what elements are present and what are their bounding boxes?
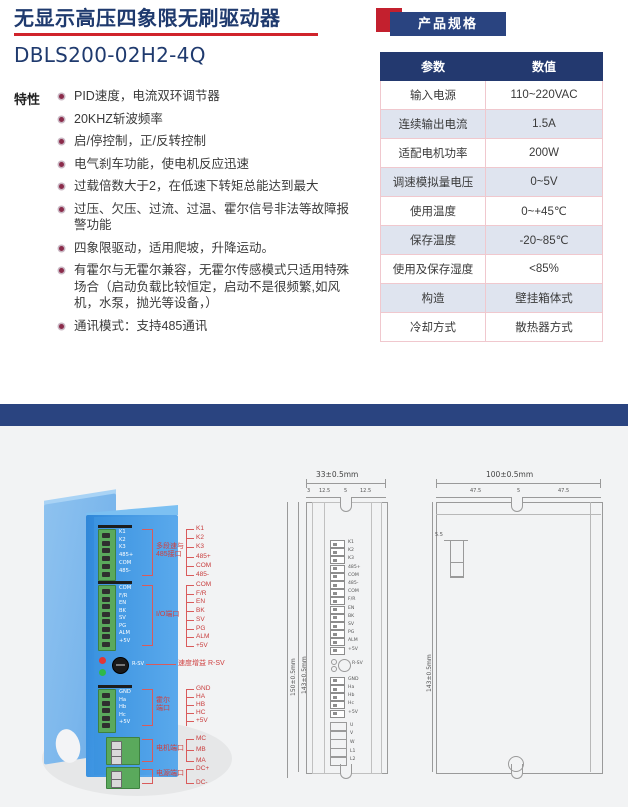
spec-value-cell: 0~5V [486, 168, 603, 197]
spec-col-param: 参数 [381, 53, 486, 81]
tb3-label: Ha [119, 697, 126, 703]
terminal-pin [102, 597, 110, 602]
spec-table-row: 使用温度0~+45℃ [381, 197, 603, 226]
model-number: DBLS200-02H2-4Q [14, 43, 334, 67]
tb2-label: EN [119, 600, 126, 606]
front-terminal-label: ALM [348, 638, 358, 644]
bullet-icon [59, 139, 64, 144]
front-terminal-row [330, 647, 345, 655]
co4-item-tick [186, 697, 194, 698]
terminal-pin [102, 589, 110, 594]
front-terminal-label: COM [348, 573, 359, 579]
page-title: 无显示高压四象限无刷驱动器 [14, 6, 334, 32]
callout-rsv: 速度增益 R-SV [178, 660, 225, 668]
feature-item: 通讯模式：支持485通讯 [58, 318, 359, 335]
front-power-label: L1 [350, 749, 355, 755]
front-sub-dim-3: 5 [344, 488, 347, 494]
front-mount-slot-top [340, 497, 352, 512]
co4-item-tick [186, 713, 194, 714]
callout-power-item: DC+ [196, 765, 209, 773]
spec-param-cell: 保存温度 [381, 226, 486, 255]
tb3-strip [98, 685, 132, 688]
front-dim-vline-2 [298, 502, 299, 772]
tb1-label: COM [119, 560, 131, 566]
callout-io-item: EN [196, 598, 205, 606]
features-label: 特性 [14, 88, 58, 340]
co2-item-tick [186, 611, 194, 612]
front-terminal-row [330, 622, 345, 630]
front-terminal-label: K2 [348, 548, 354, 554]
callout-485-item: K3 [196, 543, 204, 551]
co1-item-tick [186, 566, 194, 567]
spec-banner-band: 产品规格 [390, 12, 506, 36]
front-terminal-row [330, 556, 345, 564]
co6-tick [142, 783, 152, 784]
front-sub-dim-4: 12.5 [360, 488, 371, 494]
co1-item-tick [186, 529, 194, 530]
terminal-pin [102, 634, 110, 639]
tb3-label: Hb [119, 704, 126, 710]
bullet-icon [59, 207, 64, 212]
front-terminal-row [330, 581, 345, 589]
front-power-label: V [350, 731, 353, 737]
front-led-1 [331, 659, 337, 665]
pot-label: R-SV [132, 661, 144, 667]
co1-brace [152, 529, 153, 576]
terminal-block-power [106, 767, 140, 789]
terminal-block-485 [98, 529, 116, 581]
front-height-outer: 150±0.5mm [290, 658, 297, 696]
callout-485-item: K2 [196, 534, 204, 542]
front-power-label: W [350, 740, 355, 746]
co4-item-tick [186, 689, 194, 690]
callout-io-item: COM [196, 581, 211, 589]
feature-text: PID速度，电流双环调节器 [74, 89, 220, 103]
tb1-label: K3 [119, 544, 126, 550]
bullet-icon [59, 94, 64, 99]
drawing-side-view: 100±0.5mm 47.5 5 47.5 143±0.5mm 5.5 [430, 466, 620, 796]
feature-item: 过载倍数大于2，在低速下转矩总能达到最大 [58, 178, 359, 195]
co1-brace2 [186, 529, 187, 576]
front-sub-dim-1: 3 [307, 488, 310, 494]
spec-param-cell: 输入电源 [381, 81, 486, 110]
spec-table-header-row: 参数 数值 [381, 53, 603, 81]
side-dim-line [436, 483, 601, 484]
co2-tick [142, 645, 152, 646]
front-led-2 [331, 666, 337, 672]
feature-item: 过压、欠压、过流、过温、霍尔信号非法等故障报警功能 [58, 201, 359, 234]
front-hall-row [330, 710, 345, 718]
side-width-dim: 100±0.5mm [486, 470, 533, 479]
front-hall-row [330, 693, 345, 701]
front-hall-label: +5V [348, 710, 358, 716]
spec-value-cell: 散热器方式 [486, 313, 603, 342]
product-spec-sheet: 无显示高压四象限无刷驱动器 DBLS200-02H2-4Q 特性 PID速度，电… [0, 0, 628, 807]
co1-item-tick [186, 557, 194, 558]
co2-item-tick [186, 585, 194, 586]
front-terminal-label: K3 [348, 556, 354, 562]
co1-item-tick [186, 538, 194, 539]
feature-text: 电气刹车功能，使电机反应迅速 [74, 157, 249, 171]
side-detail-line [444, 540, 468, 541]
spec-table-body: 输入电源110~220VAC连续输出电流1.5A适配电机功率200W调速模拟量电… [381, 81, 603, 342]
co3-line [146, 664, 176, 665]
tb2-label: SV [119, 615, 126, 621]
front-mount-slot-bottom [340, 764, 352, 779]
front-terminal-row [330, 589, 345, 597]
callout-485-item: 485+ [196, 553, 211, 561]
spec-col-value: 数值 [486, 53, 603, 81]
co5-item-tick [186, 739, 194, 740]
co2-tick [142, 585, 152, 586]
front-hall-label: Ha [348, 685, 354, 691]
front-pot-label: R-SV [352, 661, 363, 667]
co1-item-tick [186, 575, 194, 576]
co1-tick [142, 529, 152, 530]
spec-banner: 产品规格 [376, 8, 616, 36]
callout-485-item: COM [196, 562, 211, 570]
front-hall-label: GND [348, 677, 359, 683]
tb1-label: 485+ [119, 552, 133, 558]
tb3-label: GND [119, 689, 131, 695]
callout-io-item: PG [196, 625, 205, 633]
spec-table-row: 构造壁挂箱体式 [381, 284, 603, 313]
co1-tick [142, 575, 152, 576]
terminal-pin [102, 556, 110, 561]
co6-brace2 [186, 769, 187, 784]
co4-item-tick [186, 721, 194, 722]
spec-banner-title: 产品规格 [390, 12, 506, 36]
front-hall-row [330, 685, 345, 693]
side-sub-dim-3: 47.5 [558, 488, 569, 494]
front-terminal-row [330, 597, 345, 605]
spec-value-cell: 1.5A [486, 110, 603, 139]
spec-table: 参数 数值 输入电源110~220VAC连续输出电流1.5A适配电机功率200W… [380, 52, 603, 342]
front-terminal-label: 485+ [348, 565, 361, 571]
tb1-label: K1 [119, 529, 126, 535]
feature-text: 有霍尔与无霍尔兼容，无霍尔传感模式只适用特殊场合（启动负载比较恒定，启动不是很频… [74, 263, 349, 310]
callout-485-item: K1 [196, 525, 204, 533]
tb2-label: ALM [119, 630, 130, 636]
led-red [99, 657, 106, 664]
callout-hall-item: HB [196, 701, 205, 709]
callout-hall-item: HC [196, 709, 205, 717]
title-underline [14, 33, 318, 36]
terminal-pin [102, 548, 110, 553]
front-terminal-row [330, 630, 345, 638]
front-terminal-label: SV [348, 622, 354, 628]
spec-panel: 产品规格 参数 数值 输入电源110~220VAC连续输出电流1.5A适配电机功… [376, 8, 616, 342]
spec-table-row: 连续输出电流1.5A [381, 110, 603, 139]
side-detail-dim: 5.5 [435, 532, 443, 538]
co5-tick [142, 761, 152, 762]
side-dim-tick-r [600, 479, 601, 488]
spec-table-row: 调速模拟量电压0~5V [381, 168, 603, 197]
side-sub-dim-1: 47.5 [470, 488, 481, 494]
co2-item-tick [186, 602, 194, 603]
side-edge-line [436, 514, 601, 515]
spec-param-cell: 构造 [381, 284, 486, 313]
tb2-label: BK [119, 608, 126, 614]
front-terminal-label: 485- [348, 581, 358, 587]
terminal-pin [102, 572, 110, 577]
drawing-front-view: 33±0.5mm 3 12.5 5 12.5 150±0.5mm 143±0.5… [280, 466, 430, 796]
feature-item: PID速度，电流双环调节器 [58, 88, 359, 105]
co4-tick [142, 725, 152, 726]
callout-485-item: 485- [196, 571, 209, 579]
spec-table-row: 使用及保存湿度<85% [381, 255, 603, 284]
callout-motor: 电机端口 [156, 745, 184, 753]
co4-item-tick [186, 705, 194, 706]
callout-io-item: +5V [196, 642, 208, 650]
spec-table-row: 输入电源110~220VAC [381, 81, 603, 110]
front-hall-label: Hb [348, 693, 354, 699]
feature-text: 通讯模式：支持485通讯 [74, 319, 207, 333]
callout-motor-item: MC [196, 735, 206, 743]
spec-param-cell: 冷却方式 [381, 313, 486, 342]
spec-table-row: 适配电机功率200W [381, 139, 603, 168]
terminal-block-motor [106, 737, 140, 765]
front-terminal-row [330, 573, 345, 581]
tb1-label: 485- [119, 568, 131, 574]
bottom-section: DG passed K1K2K3485+COM485-COMF/RENBKSVP… [0, 426, 628, 807]
spec-value-cell: 0~+45℃ [486, 197, 603, 226]
feature-text: 过压、欠压、过流、过温、霍尔信号非法等故障报警功能 [74, 202, 349, 233]
feature-item: 启/停控制，正/反转控制 [58, 133, 359, 150]
terminal-pin [102, 533, 110, 538]
front-terminal-row [330, 606, 345, 614]
spec-param-cell: 适配电机功率 [381, 139, 486, 168]
tb1-label: K2 [119, 537, 126, 543]
feature-item: 20KHZ斩波频率 [58, 111, 359, 128]
front-power-label: L2 [350, 757, 355, 763]
terminal-pin [102, 642, 110, 647]
callout-hall-item: +5V [196, 717, 208, 725]
features-list: PID速度，电流双环调节器20KHZ斩波频率启/停控制，正/反转控制电气刹车功能… [58, 88, 359, 340]
front-terminal-row [330, 614, 345, 622]
potentiometer-rsv [112, 657, 129, 674]
terminal-pin [102, 619, 110, 624]
feature-text: 启/停控制，正/反转控制 [74, 134, 206, 148]
front-sub-dim-2: 12.5 [319, 488, 330, 494]
feature-text: 20KHZ斩波频率 [74, 112, 163, 126]
terminal-pin [102, 612, 110, 617]
spec-value-cell: 壁挂箱体式 [486, 284, 603, 313]
bullet-icon [59, 184, 64, 189]
callout-hall: 霍尔端口 [156, 697, 170, 713]
spec-value-cell: 110~220VAC [486, 81, 603, 110]
led-green [99, 669, 106, 676]
front-terminal-row [330, 565, 345, 573]
co5-item-tick [186, 750, 194, 751]
co2-item-tick [186, 646, 194, 647]
co6-brace [152, 769, 153, 784]
spec-value-cell: <85% [486, 255, 603, 284]
terminal-block-hall [98, 689, 116, 733]
spec-value-cell: 200W [486, 139, 603, 168]
co2-brace [152, 585, 153, 646]
side-right-edge [590, 502, 591, 772]
tb3-label: Hc [119, 712, 126, 718]
terminal-pin [102, 716, 110, 721]
terminal-pin [102, 701, 110, 706]
co2-item-tick [186, 637, 194, 638]
front-terminal-label: EN [348, 606, 354, 612]
callout-power-item: DC- [196, 779, 208, 787]
terminal-pin [102, 693, 110, 698]
bullet-icon [59, 246, 64, 251]
terminal-screw [111, 779, 122, 788]
spec-table-row: 保存温度-20~85℃ [381, 226, 603, 255]
callout-485: 多段速与485接口 [156, 543, 184, 559]
co2-item-tick [186, 629, 194, 630]
section-divider [0, 404, 628, 426]
side-dim-tick-l [436, 479, 437, 488]
front-power-label: U [350, 723, 353, 729]
callout-io-item: F/R [196, 590, 206, 598]
co6-item-tick [186, 769, 194, 770]
front-width-dim: 33±0.5mm [316, 470, 358, 479]
top-section: 无显示高压四象限无刷驱动器 DBLS200-02H2-4Q 特性 PID速度，电… [0, 0, 628, 390]
terminal-screw [111, 756, 122, 765]
front-dim-tick-r [385, 479, 386, 488]
tb2-label: F/R [119, 593, 127, 599]
side-dim-vline [432, 502, 433, 772]
tb2-label: PG [119, 623, 126, 629]
feature-text: 过载倍数大于2，在低速下转矩总能达到最大 [74, 179, 318, 193]
front-hall-row [330, 701, 345, 709]
front-dim-line [306, 483, 386, 484]
front-hall-row [330, 677, 345, 685]
co5-brace [152, 739, 153, 762]
features-block: 特性 PID速度，电流双环调节器20KHZ斩波频率启/停控制，正/反转控制电气刹… [14, 88, 359, 340]
front-terminal-label: K1 [348, 540, 354, 546]
spec-param-cell: 使用温度 [381, 197, 486, 226]
co1-item-tick [186, 547, 194, 548]
bullet-icon [59, 162, 64, 167]
tb2-label: COM [119, 585, 131, 591]
callout-io-item: ALM [196, 633, 209, 641]
tb3-label: +5V [119, 719, 130, 725]
front-terminal-row [330, 540, 345, 548]
terminal-block-io [98, 585, 116, 651]
front-power-row [330, 756, 347, 766]
callout-power: 电源端口 [156, 770, 184, 778]
tb2-strip [98, 581, 132, 584]
spec-param-cell: 使用及保存湿度 [381, 255, 486, 284]
callout-hall-item: HA [196, 693, 205, 701]
spec-table-row: 冷却方式散热器方式 [381, 313, 603, 342]
feature-item: 电气刹车功能，使电机反应迅速 [58, 156, 359, 173]
co2-item-tick [186, 594, 194, 595]
callout-io-item: SV [196, 616, 205, 624]
front-terminal-label: +5V [348, 647, 358, 653]
tb1-strip [98, 525, 132, 528]
co6-tick [142, 769, 152, 770]
callout-io-item: BK [196, 607, 205, 615]
callout-hall-item: GND [196, 685, 210, 693]
co6-item-tick [186, 783, 194, 784]
callout-motor-item: MB [196, 746, 206, 754]
front-terminal-label: F/R [348, 597, 355, 603]
front-terminal-label: COM [348, 589, 359, 595]
bullet-icon [59, 324, 64, 329]
front-height-inner: 143±0.5mm [301, 656, 308, 694]
front-dim-vline-1 [287, 502, 288, 778]
front-terminal-row [330, 548, 345, 556]
side-bottom-hole [508, 756, 524, 772]
callout-motor-item: MA [196, 757, 206, 765]
spec-value-cell: -20~85℃ [486, 226, 603, 255]
front-hall-label: Hc [348, 701, 354, 707]
co4-tick [142, 689, 152, 690]
terminal-pin [102, 723, 110, 728]
tb2-label: +5V [119, 638, 130, 644]
terminal-pin [102, 627, 110, 632]
bullet-icon [59, 117, 64, 122]
bullet-icon [59, 268, 64, 273]
side-sub-dim-2: 5 [517, 488, 520, 494]
spec-param-cell: 连续输出电流 [381, 110, 486, 139]
product-photo: DG passed K1K2K3485+COM485-COMF/RENBKSVP… [20, 471, 270, 801]
co2-item-tick [186, 620, 194, 621]
front-potentiometer [338, 659, 351, 672]
feature-item: 有霍尔与无霍尔兼容，无霍尔传感模式只适用特殊场合（启动负载比较恒定，启动不是很频… [58, 262, 359, 312]
feature-item: 四象限驱动，适用爬坡，升降运动。 [58, 240, 359, 257]
side-detail-bracket-inner [450, 562, 464, 578]
feature-text: 四象限驱动，适用爬坡，升降运动。 [74, 241, 274, 255]
terminal-pin [102, 604, 110, 609]
co5-tick [142, 739, 152, 740]
terminal-pin [102, 708, 110, 713]
front-terminal-label: BK [348, 614, 354, 620]
co5-item-tick [186, 761, 194, 762]
title-block: 无显示高压四象限无刷驱动器 DBLS200-02H2-4Q [14, 6, 334, 67]
co4-brace [152, 689, 153, 726]
callout-io: I/O端口 [156, 611, 179, 619]
front-dim-tick-l [306, 479, 307, 488]
side-mount-slot-top [511, 497, 523, 512]
spec-param-cell: 调速模拟量电压 [381, 168, 486, 197]
terminal-pin [102, 541, 110, 546]
front-terminal-label: PG [348, 630, 354, 636]
terminal-pin [102, 564, 110, 569]
front-terminal-row [330, 638, 345, 646]
